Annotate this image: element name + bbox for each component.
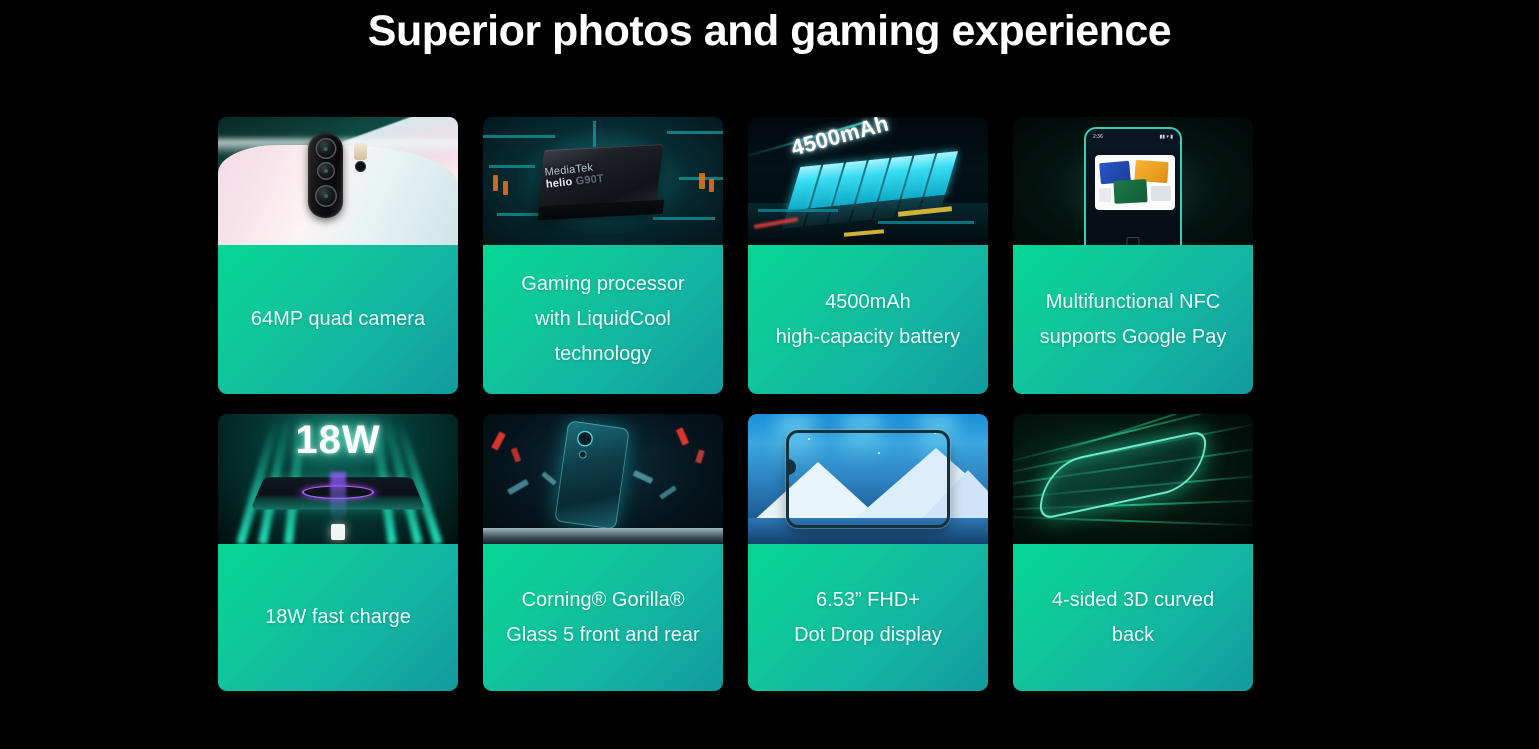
camera-lens-icon	[578, 450, 587, 459]
camera-lens-icon	[315, 185, 337, 207]
camera-caption: 64MP quad camera	[218, 245, 458, 394]
nfc-media: 2:36 ▮▮ ▾ ▮	[1013, 117, 1253, 245]
phone-status-bar: 2:36 ▮▮ ▾ ▮	[1093, 133, 1173, 141]
feature-grid-page: Superior photos and gaming experience 64…	[0, 0, 1539, 749]
glass-shard	[507, 479, 529, 495]
camera-flash-icon	[354, 143, 367, 160]
feature-card-curved-back[interactable]: 4-sided 3D curved back	[1013, 414, 1253, 691]
feature-card-camera[interactable]: 64MP quad camera	[218, 117, 458, 394]
dot-drop-notch-icon	[786, 459, 796, 475]
feature-card-gorilla-glass[interactable]: Corning® Gorilla® Glass 5 front and rear	[483, 414, 723, 691]
battery-media: 4500mAh	[748, 117, 988, 245]
pcb-trace	[653, 217, 715, 220]
status-time-text: 2:36	[1093, 134, 1103, 140]
display-caption: 6.53” FHD+ Dot Drop display	[748, 544, 988, 691]
status-icons: ▮▮ ▾ ▮	[1159, 134, 1173, 140]
glass-shard	[491, 431, 506, 450]
processor-caption: Gaming processor with LiquidCool technol…	[483, 245, 723, 394]
display-media	[748, 414, 988, 544]
pcb-led	[699, 173, 705, 189]
impact-surface	[483, 528, 723, 544]
pcb-led	[503, 181, 508, 195]
pcb-trace	[489, 165, 535, 168]
camera-media	[218, 117, 458, 245]
camera-lens-icon	[317, 162, 335, 180]
quad-camera-module-icon	[308, 133, 343, 218]
fast-charge-media: 18W	[218, 414, 458, 544]
pcb-trace	[758, 209, 838, 212]
caption-text: 6.53” FHD+ Dot Drop display	[794, 583, 942, 653]
pcb-led	[493, 175, 498, 191]
gorilla-glass-caption: Corning® Gorilla® Glass 5 front and rear	[483, 544, 723, 691]
glass-shard	[633, 470, 654, 484]
glass-shard	[511, 447, 521, 462]
curved-back-media	[1013, 414, 1253, 544]
payment-card	[1113, 179, 1147, 204]
curved-back-caption: 4-sided 3D curved back	[1013, 544, 1253, 691]
pcb-trace	[483, 135, 555, 138]
battery-caption: 4500mAh high-capacity battery	[748, 245, 988, 394]
camera-lens-icon	[576, 430, 594, 448]
battery-capacity-overlay: 4500mAh	[788, 117, 891, 161]
feature-card-processor[interactable]: MediaTek helio G90T Gaming processor wit…	[483, 117, 723, 394]
feature-card-fast-charge[interactable]: 18W 18W fast charge	[218, 414, 458, 691]
caption-text: Corning® Gorilla® Glass 5 front and rear	[506, 583, 699, 653]
glass-shard	[541, 471, 556, 485]
caption-text: 4-sided 3D curved back	[1052, 583, 1214, 653]
feature-card-display[interactable]: 6.53” FHD+ Dot Drop display	[748, 414, 988, 691]
feature-card-battery[interactable]: 4500mAh 4500mAh high-capacity battery	[748, 117, 988, 394]
caption-text: 64MP quad camera	[251, 302, 425, 337]
caption-text: 18W fast charge	[265, 600, 411, 635]
pcb-trace	[667, 131, 723, 134]
pcb-led	[709, 179, 714, 192]
glass-shard	[695, 449, 705, 463]
caption-text: Multifunctional NFC supports Google Pay	[1040, 285, 1227, 355]
phone-falling-icon	[554, 420, 630, 530]
payment-card	[1099, 188, 1111, 202]
wallet-cards-icon	[1095, 155, 1175, 210]
camera-lens-icon	[315, 138, 336, 159]
phone-display-frame-icon	[786, 430, 950, 528]
nfc-caption: Multifunctional NFC supports Google Pay	[1013, 245, 1253, 394]
glass-shard	[659, 485, 677, 499]
home-button-icon	[1127, 237, 1140, 245]
charge-beam	[330, 472, 346, 518]
phone-frame-icon: 2:36 ▮▮ ▾ ▮	[1084, 127, 1182, 245]
usb-plug-icon	[331, 524, 345, 540]
pcb-trace	[878, 221, 974, 224]
fast-charge-caption: 18W fast charge	[218, 544, 458, 691]
pcb-trace	[593, 121, 596, 147]
page-title: Superior photos and gaming experience	[0, 2, 1539, 60]
caption-text: Gaming processor with LiquidCool technol…	[521, 267, 684, 372]
glass-shard	[676, 427, 689, 445]
wattage-overlay: 18W	[218, 418, 458, 463]
feature-card-grid: 64MP quad camera MediaTek	[218, 117, 1263, 691]
processor-media: MediaTek helio G90T	[483, 117, 723, 245]
feature-card-nfc[interactable]: 2:36 ▮▮ ▾ ▮ Multifunctional NFC supports…	[1013, 117, 1253, 394]
gorilla-glass-media	[483, 414, 723, 544]
curved-phone-icon	[1039, 430, 1207, 521]
payment-card	[1151, 186, 1171, 201]
caption-text: 4500mAh high-capacity battery	[776, 285, 961, 355]
camera-sensor-icon	[355, 161, 366, 172]
